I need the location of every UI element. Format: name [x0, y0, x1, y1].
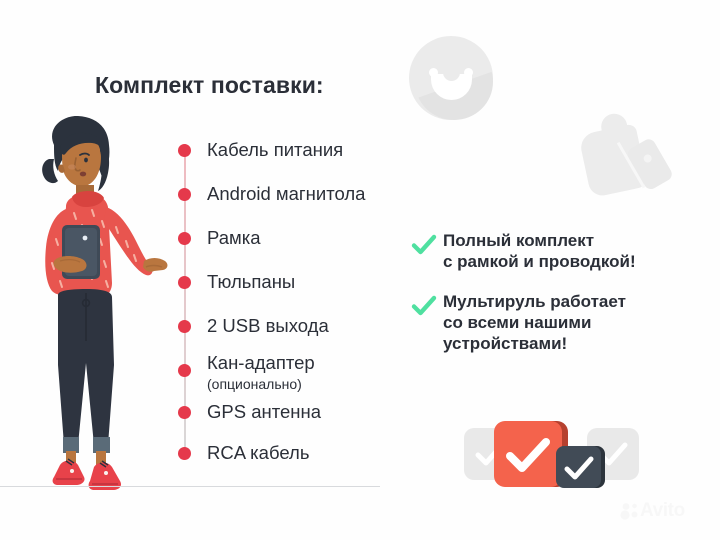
bullet-dot-icon [178, 406, 191, 419]
benefit-item: Полный комплект с рамкой и проводкой! [411, 231, 701, 272]
list-item-label: Android магнитола [207, 183, 365, 204]
thumbs-up-icon [569, 103, 682, 213]
bullet-dot-icon [178, 188, 191, 201]
page-title: Комплект поставки: [95, 72, 324, 99]
list-item-label: RCA кабель [207, 442, 309, 463]
check-mark-icon [564, 456, 594, 480]
list-item: Android магнитола [178, 184, 365, 205]
list-item-label: GPS антенна [207, 401, 321, 422]
bullet-dot-icon [178, 447, 191, 460]
list-item-label: 2 USB выхода [207, 315, 329, 336]
green-check-icon [411, 293, 437, 319]
bullet-dot-icon [178, 320, 191, 333]
benefits-list: Полный комплект с рамкой и проводкой! Му… [411, 231, 701, 369]
list-item: Кабель питания [178, 140, 343, 161]
list-item-label: Тюльпаны [207, 271, 295, 292]
list-item: Рамка [178, 228, 261, 249]
smiley-face-icon [409, 36, 493, 120]
list-item: GPS антенна [178, 402, 321, 423]
check-cards-group [464, 416, 639, 488]
benefit-item: Мультируль работает со всеми нашими устр… [411, 292, 701, 354]
avito-watermark: Avito [620, 500, 685, 522]
check-card-dark [556, 446, 601, 488]
package-list: Кабель питания Android магнитола Рамка Т… [178, 140, 408, 455]
list-item-label: Кабель питания [207, 139, 343, 160]
bullet-dot-icon [178, 232, 191, 245]
bullet-dot-icon [178, 276, 191, 289]
list-item: Кан-адаптер (опционально) [178, 353, 315, 392]
green-check-icon [411, 232, 437, 258]
avito-watermark-label: Avito [640, 500, 685, 522]
list-item: 2 USB выхода [178, 316, 329, 337]
check-mark-icon [506, 438, 550, 472]
promo-banner: Комплект поставки: Кабель питания Androi… [0, 0, 720, 540]
check-card-red [494, 421, 562, 487]
list-item-sublabel: (опционально) [207, 376, 315, 392]
list-item: RCA кабель [178, 443, 309, 464]
bullet-dot-icon [178, 144, 191, 157]
benefit-text: Мультируль работает со всеми нашими устр… [443, 292, 626, 354]
woman-pointing-illustration [16, 115, 176, 493]
avito-logo-icon [620, 501, 640, 521]
benefit-text: Полный комплект с рамкой и проводкой! [443, 231, 636, 272]
ground-line [0, 486, 380, 487]
bullet-dot-icon [178, 364, 191, 377]
list-item-label: Рамка [207, 227, 261, 248]
list-item-label: Кан-адаптер [207, 352, 315, 373]
list-item: Тюльпаны [178, 272, 295, 293]
